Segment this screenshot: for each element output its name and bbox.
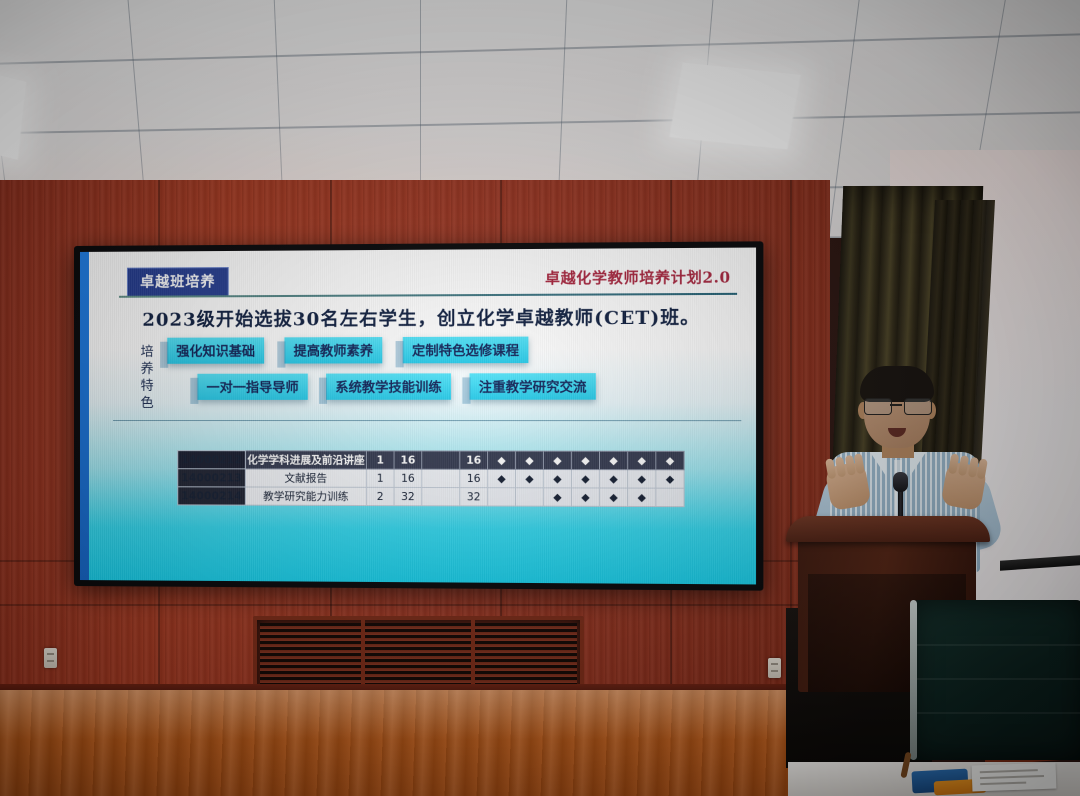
cell-mark: ◆ bbox=[515, 451, 543, 469]
cell-mark bbox=[515, 488, 543, 506]
cell-mark bbox=[488, 488, 516, 506]
cell-mark: ◆ bbox=[515, 469, 543, 487]
cell-gap bbox=[422, 487, 460, 505]
display-screen[interactable]: 卓越班培养 卓越化学教师培养计划2.0 2023级开始选拔30名左右学生，创立化… bbox=[74, 241, 763, 590]
floor bbox=[0, 690, 830, 796]
slide-headline: 2023级开始选拔30名左右学生，创立化学卓越教师(CET)班。 bbox=[89, 303, 756, 332]
cell-credit: 1 bbox=[366, 451, 394, 469]
cell-mark: ◆ bbox=[488, 451, 516, 469]
glasses-icon bbox=[864, 398, 930, 413]
cell-hours: 16 bbox=[394, 469, 422, 487]
cell-credit: 1 bbox=[366, 469, 394, 487]
cell-mark: ◆ bbox=[543, 451, 571, 469]
slide-divider-mid bbox=[113, 420, 741, 422]
chip-row-2: 一对一指导导师 系统教学技能训练 注重教学研究交流 bbox=[167, 373, 735, 400]
feature-chip: 注重教学研究交流 bbox=[470, 373, 596, 400]
ceiling-light-panel-right bbox=[669, 63, 800, 150]
cell-code: 14000213 bbox=[178, 469, 246, 487]
cell-credit: 2 bbox=[366, 487, 394, 505]
screen-blue-edge bbox=[80, 252, 89, 580]
feature-chip-group: 强化知识基础 提高教师素养 定制特色选修课程 一对一指导导师 系统教学技能训练 … bbox=[167, 336, 735, 410]
cell-name: 文献报告 bbox=[245, 469, 366, 487]
slide-badge: 卓越班培养 bbox=[127, 267, 229, 297]
feature-chip: 系统教学技能训练 bbox=[326, 373, 451, 399]
cell-total: 16 bbox=[460, 451, 488, 469]
documents[interactable] bbox=[972, 763, 1057, 792]
table-row: 14000212化学学科进展及前沿讲座11616◆◆◆◆◆◆◆ bbox=[178, 451, 684, 470]
cell-mark: ◆ bbox=[656, 451, 684, 469]
feature-chip: 定制特色选修课程 bbox=[403, 337, 529, 364]
cell-mark: ◆ bbox=[599, 451, 627, 469]
cell-hours: 32 bbox=[394, 487, 422, 505]
cell-mark: ◆ bbox=[628, 488, 656, 506]
cell-mark: ◆ bbox=[543, 469, 571, 487]
wall-outlet-right[interactable] bbox=[768, 658, 781, 678]
cell-mark: ◆ bbox=[488, 469, 516, 487]
cell-mark: ◆ bbox=[571, 451, 599, 469]
cell-code: 14000212 bbox=[178, 451, 246, 469]
slide-title: 卓越化学教师培养计划2.0 bbox=[545, 266, 731, 288]
cell-gap bbox=[422, 451, 460, 469]
feature-chip: 强化知识基础 bbox=[167, 337, 264, 363]
cell-name: 教学研究能力训练 bbox=[245, 487, 366, 506]
feature-chip: 一对一指导导师 bbox=[197, 374, 307, 400]
cell-mark: ◆ bbox=[628, 470, 656, 488]
presenter-hair bbox=[860, 366, 934, 402]
cell-mark: ◆ bbox=[571, 488, 599, 506]
cell-mark: ◆ bbox=[628, 451, 656, 469]
cell-mark: ◆ bbox=[571, 470, 599, 488]
leather-chair[interactable] bbox=[910, 600, 1080, 760]
cell-code: 14000214 bbox=[178, 487, 246, 505]
cell-mark: ◆ bbox=[599, 488, 627, 506]
slide-content: 卓越班培养 卓越化学教师培养计划2.0 2023级开始选拔30名左右学生，创立化… bbox=[89, 248, 756, 585]
cell-name: 化学学科进展及前沿讲座 bbox=[245, 451, 366, 469]
lecture-hall-photo: 卓越班培养 卓越化学教师培养计划2.0 2023级开始选拔30名左右学生，创立化… bbox=[0, 0, 1080, 796]
cell-gap bbox=[422, 469, 460, 487]
cell-total: 16 bbox=[460, 469, 488, 487]
chair-highlight-edge bbox=[910, 600, 917, 760]
ceiling-light-panel-left bbox=[0, 64, 26, 160]
cell-mark: ◆ bbox=[656, 470, 684, 488]
chip-row-1: 强化知识基础 提高教师素养 定制特色选修课程 bbox=[167, 336, 735, 364]
cell-total: 32 bbox=[460, 488, 488, 506]
cell-mark: ◆ bbox=[543, 488, 571, 506]
wall-outlet-left[interactable] bbox=[44, 648, 57, 668]
cell-mark: ◆ bbox=[599, 470, 627, 488]
table-row: 14000213文献报告11616◆◆◆◆◆◆◆ bbox=[178, 469, 684, 489]
cell-hours: 16 bbox=[394, 451, 422, 469]
cell-mark bbox=[656, 488, 684, 507]
course-table: 14000212化学学科进展及前沿讲座11616◆◆◆◆◆◆◆14000213文… bbox=[177, 450, 684, 507]
table-row: 14000214教学研究能力训练23232◆◆◆◆ bbox=[178, 487, 684, 507]
feature-chip: 提高教师素养 bbox=[284, 337, 382, 364]
slide-side-label: 培养特色 bbox=[135, 344, 159, 412]
